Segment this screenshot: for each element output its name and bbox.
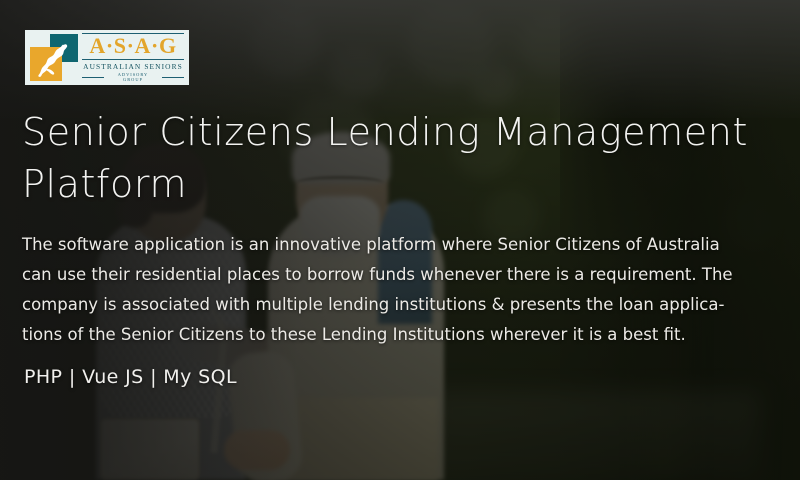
hero-content: A·S·A·G AUSTRALIAN SENIORS ADVISORY GROU… [0,0,800,480]
kangaroo-icon [30,34,78,81]
logo-subtagline: ADVISORY GROUP [82,72,184,82]
description-line: company is associated with multiple lend… [22,290,762,320]
description-line: The software application is an innovativ… [22,230,762,260]
logo-wordmark: A·S·A·G [82,33,184,60]
tech-stack-label: PHP | Vue JS | My SQL [24,366,237,388]
logo-tagline: AUSTRALIAN SENIORS [82,62,184,71]
hero-description: The software application is an innovativ… [22,230,762,350]
hero-banner: A·S·A·G AUSTRALIAN SENIORS ADVISORY GROU… [0,0,800,480]
description-line: can use their residential places to borr… [22,260,762,290]
description-line: tions of the Senior Citizens to these Le… [22,320,762,350]
asag-logo[interactable]: A·S·A·G AUSTRALIAN SENIORS ADVISORY GROU… [25,30,189,85]
page-title: Senior Citizens Lending Management Platf… [22,106,762,210]
logo-wordmark-block: A·S·A·G AUSTRALIAN SENIORS ADVISORY GROU… [78,33,184,82]
kangaroo-glyph [34,39,76,79]
